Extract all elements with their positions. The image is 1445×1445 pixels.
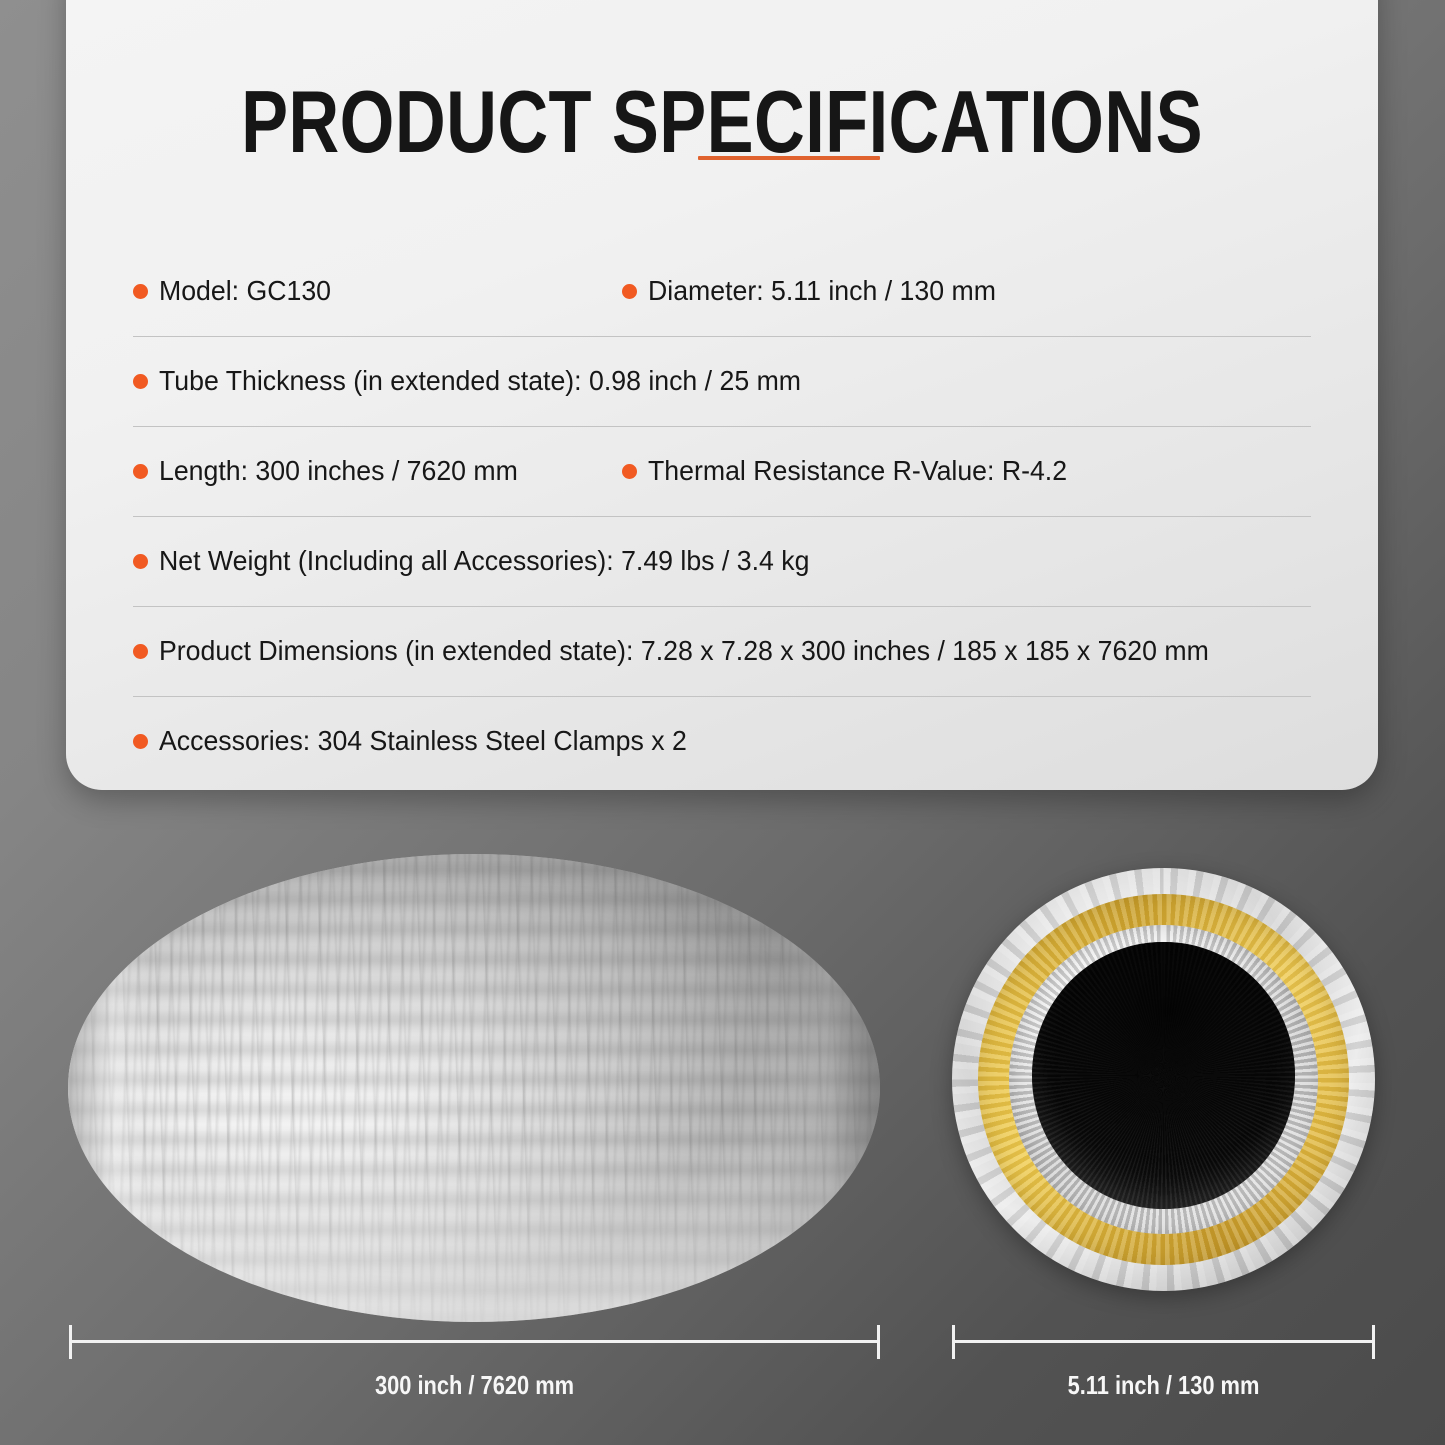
- bullet-icon: [133, 464, 148, 479]
- spec-item-product-dimensions: Product Dimensions (in extended state): …: [133, 635, 1311, 667]
- spec-label: Accessories: 304 Stainless Steel Clamps …: [159, 725, 687, 757]
- specification-card: PRODUCT SPECIFICATIONS Model: GC130 Diam…: [66, 0, 1378, 790]
- spec-item-net-weight: Net Weight (Including all Accessories): …: [133, 545, 1311, 577]
- diameter-dimension-label: 5.11 inch / 130 mm: [986, 1370, 1341, 1401]
- spec-label: Thermal Resistance R-Value: R-4.2: [648, 455, 1067, 487]
- dimension-line: [952, 1340, 1375, 1343]
- dimension-tick-right: [1372, 1325, 1375, 1359]
- duct-roll-photo: [68, 854, 880, 1322]
- dimension-tick-left: [952, 1325, 955, 1359]
- bullet-icon: [133, 374, 148, 389]
- spec-label: Tube Thickness (in extended state): 0.98…: [159, 365, 801, 397]
- duct-bore: [1032, 942, 1294, 1208]
- dimension-line: [69, 1340, 880, 1343]
- spec-label: Diameter: 5.11 inch / 130 mm: [648, 275, 996, 307]
- duct-roll-top-shading: [68, 854, 880, 1116]
- spec-item-model: Model: GC130: [133, 275, 622, 307]
- spec-label: Length: 300 inches / 7620 mm: [159, 455, 518, 487]
- dimension-tick-left: [69, 1325, 72, 1359]
- spec-row: Tube Thickness (in extended state): 0.98…: [133, 336, 1311, 426]
- title-accent-bar: [698, 156, 880, 160]
- bullet-icon: [622, 284, 637, 299]
- spec-row: Product Dimensions (in extended state): …: [133, 606, 1311, 696]
- spec-label: Model: GC130: [159, 275, 331, 307]
- spec-item-length: Length: 300 inches / 7620 mm: [133, 455, 622, 487]
- duct-roll-right-cap: [774, 854, 880, 1322]
- duct-roll-bottom-highlight: [68, 1125, 880, 1322]
- bullet-icon: [133, 644, 148, 659]
- spec-row: Accessories: 304 Stainless Steel Clamps …: [133, 696, 1311, 786]
- product-spec-image: PRODUCT SPECIFICATIONS Model: GC130 Diam…: [0, 0, 1445, 1445]
- duct-roll-left-cap: [68, 854, 152, 1322]
- bullet-icon: [133, 734, 148, 749]
- spec-label: Net Weight (Including all Accessories): …: [159, 545, 809, 577]
- specification-list: Model: GC130 Diameter: 5.11 inch / 130 m…: [133, 246, 1311, 786]
- length-dimension-label: 300 inch / 7620 mm: [134, 1370, 815, 1401]
- spec-label: Product Dimensions (in extended state): …: [159, 635, 1209, 667]
- product-photo-area: 300 inch / 7620 mm 5.11 inch / 130 mm: [0, 820, 1445, 1445]
- bullet-icon: [622, 464, 637, 479]
- duct-cross-section-photo: [952, 868, 1375, 1291]
- page-title: PRODUCT SPECIFICATIONS: [197, 78, 1247, 166]
- bore-inner-shadow: [1032, 942, 1294, 1208]
- spec-item-tube-thickness: Tube Thickness (in extended state): 0.98…: [133, 365, 1311, 397]
- spec-row: Net Weight (Including all Accessories): …: [133, 516, 1311, 606]
- spec-item-r-value: Thermal Resistance R-Value: R-4.2: [622, 455, 1080, 487]
- spec-row: Length: 300 inches / 7620 mm Thermal Res…: [133, 426, 1311, 516]
- bullet-icon: [133, 284, 148, 299]
- bullet-icon: [133, 554, 148, 569]
- dimension-tick-right: [877, 1325, 880, 1359]
- spec-row: Model: GC130 Diameter: 5.11 inch / 130 m…: [133, 246, 1311, 336]
- spec-item-accessories: Accessories: 304 Stainless Steel Clamps …: [133, 725, 1311, 757]
- spec-item-diameter: Diameter: 5.11 inch / 130 mm: [622, 275, 1007, 307]
- duct-roll-body: [68, 854, 880, 1322]
